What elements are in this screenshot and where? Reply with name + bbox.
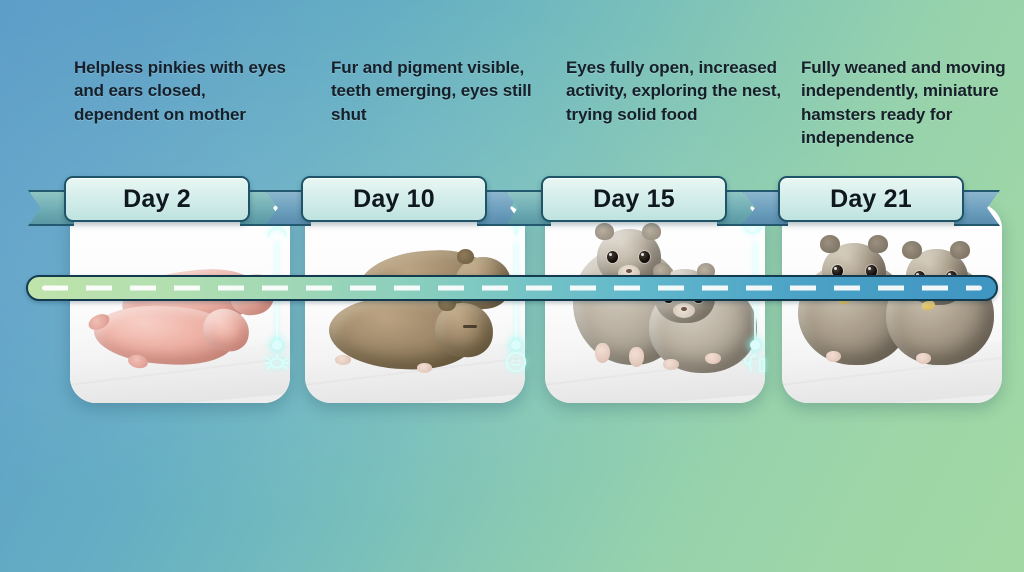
hamster-left-eye-left <box>607 251 618 263</box>
ribbon-plate: Day 15 <box>541 176 727 222</box>
stage-caption-day-10: Fur and pigment visible, teeth emerging,… <box>331 56 546 126</box>
day-ribbon-day-21[interactable]: Day 21 <box>778 176 964 222</box>
face-badge-icon <box>502 348 530 376</box>
connector-line-lower <box>754 298 756 344</box>
hamster-left-eye-right <box>639 251 650 263</box>
ribbon-plate: Day 2 <box>64 176 250 222</box>
hamster-left-paw-2 <box>629 347 644 367</box>
hamster-right-nose <box>681 307 687 311</box>
ribbon-plate: Day 21 <box>778 176 964 222</box>
day-label: Day 15 <box>593 187 675 212</box>
hamster-photo-day-15 <box>545 203 765 403</box>
hamster-left-ear-left <box>595 223 614 240</box>
hamster-left-nose <box>626 269 632 273</box>
ribbon-plate: Day 10 <box>301 176 487 222</box>
connector-line-lower <box>515 298 517 344</box>
leaf-sprout-icon <box>741 348 769 376</box>
day-label: Day 10 <box>353 187 435 212</box>
day-ribbon-day-15[interactable]: Day 15 <box>541 176 727 222</box>
hamster-right-ear-left <box>902 241 922 259</box>
hamster-right-paw <box>916 353 931 364</box>
hamster-photo-day-10 <box>305 203 525 403</box>
day-label: Day 21 <box>830 187 912 212</box>
stage-caption-day-2: Helpless pinkies with eyes and ears clos… <box>74 56 289 126</box>
insect-icon <box>263 348 291 376</box>
hamster-left-paw <box>595 343 610 363</box>
hamster-left-ear-right <box>642 223 661 240</box>
stage-card-day-15 <box>545 203 765 403</box>
hamster-photo-day-21 <box>782 203 1002 403</box>
stage-card-day-21 <box>782 203 1002 403</box>
hamster-left-ear-right <box>868 235 888 253</box>
day-ribbon-day-2[interactable]: Day 2 <box>64 176 250 222</box>
timeline-dashed-line <box>42 286 982 291</box>
day-ribbon-day-10[interactable]: Day 10 <box>301 176 487 222</box>
hamster-lower-paw <box>335 355 351 365</box>
stage-caption-day-15: Eyes fully open, increased activity, exp… <box>566 56 781 126</box>
hamster-lower-hind-paw <box>417 363 432 373</box>
infographic-stage: Helpless pinkies with eyes and ears clos… <box>0 0 1024 572</box>
stage-caption-day-21: Fully weaned and moving independently, m… <box>801 56 1023 150</box>
hamster-left-ear-left <box>820 235 840 253</box>
hamster-right-ear-right <box>950 241 970 259</box>
hamster-lower-eye-closed <box>463 325 477 328</box>
hamster-upper-ear <box>457 249 474 264</box>
hamster-right-paw-2 <box>705 353 721 364</box>
stage-card-day-10 <box>305 203 525 403</box>
hamster-left-paw <box>826 351 841 362</box>
day-label: Day 2 <box>123 187 191 212</box>
hamster-right-paw <box>663 359 679 370</box>
connector-line-lower <box>276 298 278 344</box>
timeline-bar[interactable] <box>26 275 998 301</box>
